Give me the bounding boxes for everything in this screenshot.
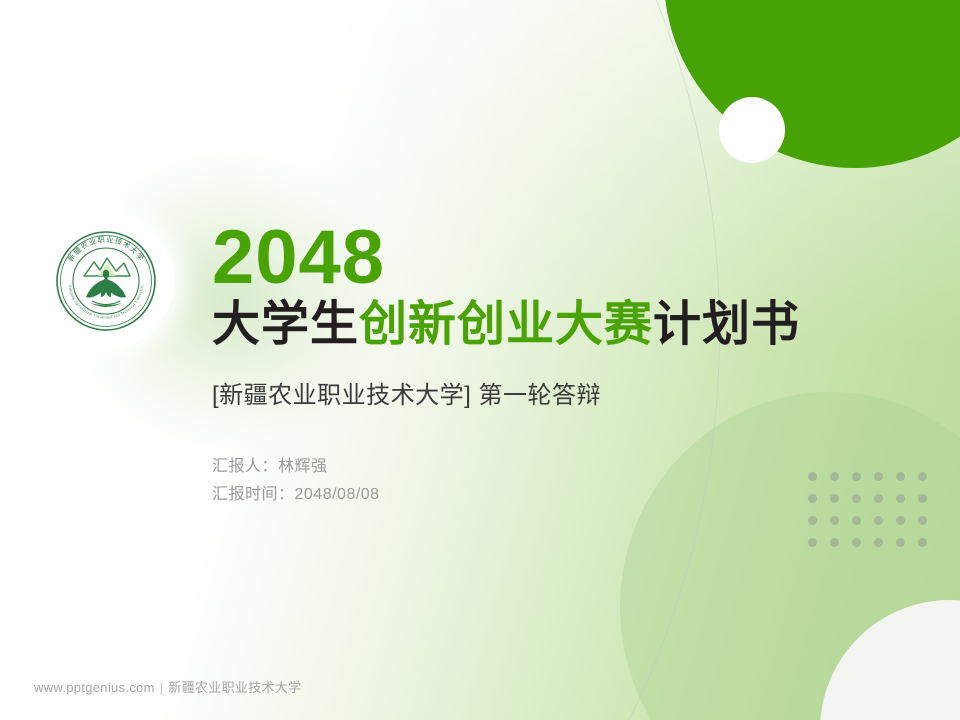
decor-dot: [918, 472, 927, 481]
decor-dot: [896, 516, 905, 525]
year-heading: 2048: [212, 222, 912, 293]
headline-segment-0: 大学生: [212, 298, 359, 351]
decor-dot: [808, 516, 817, 525]
footer-site[interactable]: www.pptgenius.com: [34, 680, 155, 695]
footer: www.pptgenius.com|新疆农业职业技术大学: [34, 677, 301, 696]
title-block: 2048 大学生创新创业大赛计划书 [新疆农业职业技术大学] 第一轮答辩 汇报人…: [212, 222, 912, 509]
decor-white-dot-circle: [719, 97, 785, 163]
university-seal-icon: 新疆农业职业技术大学 Xinjiang Agricultural Vocatio…: [54, 229, 158, 333]
footer-separator: |: [160, 680, 164, 695]
presenter-line: 汇报人：林辉强: [212, 453, 912, 481]
decor-dot: [874, 516, 883, 525]
decor-dot: [918, 538, 927, 547]
main-headline: 大学生创新创业大赛计划书: [212, 297, 912, 354]
decor-dot: [918, 494, 927, 503]
headline-segment-1: 创新创业大赛: [359, 298, 653, 351]
decor-dot: [852, 538, 861, 547]
subtitle: [新疆农业职业技术大学] 第一轮答辩: [212, 380, 912, 411]
footer-organization: 新疆农业职业技术大学: [168, 680, 301, 695]
date-line: 汇报时间：2048/08/08: [212, 481, 912, 509]
decor-dot: [808, 538, 817, 547]
decor-dot: [918, 516, 927, 525]
presentation-meta: 汇报人：林辉强 汇报时间：2048/08/08: [212, 453, 912, 509]
decor-dot: [830, 516, 839, 525]
decor-dot: [852, 516, 861, 525]
presentation-title-slide: 新疆农业职业技术大学 Xinjiang Agricultural Vocatio…: [0, 0, 960, 720]
headline-segment-2: 计划书: [653, 298, 800, 351]
decor-dot: [830, 538, 839, 547]
decor-dot: [896, 538, 905, 547]
decor-dot: [874, 538, 883, 547]
